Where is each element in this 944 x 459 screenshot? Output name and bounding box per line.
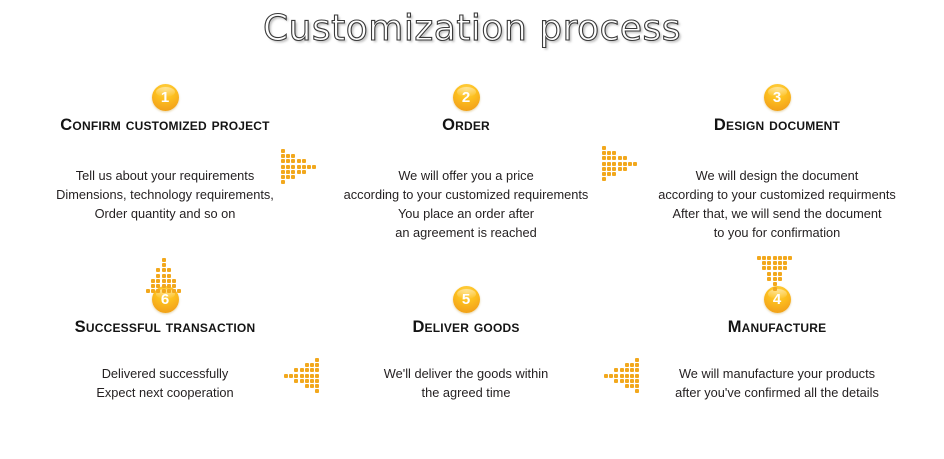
arrow-dot	[625, 374, 629, 378]
arrow-dot	[300, 379, 304, 383]
arrow-dot	[156, 268, 160, 272]
arrow-dot	[602, 151, 606, 155]
arrow-dot	[635, 389, 639, 393]
arrow-dot	[289, 374, 293, 378]
arrow-dot	[607, 162, 611, 166]
arrow-dot	[757, 256, 761, 260]
arrow-dot	[620, 374, 624, 378]
arrow-dot	[633, 162, 637, 166]
step-description-line: to you for confirmation	[627, 223, 927, 242]
arrow-dot	[604, 374, 608, 378]
arrow-dot	[172, 289, 176, 293]
arrow-dot	[294, 368, 298, 372]
arrow-dot	[300, 374, 304, 378]
arrow-dot	[162, 279, 166, 283]
arrow-dot	[307, 165, 311, 169]
process-step-1: 1 Confirm customized project Tell us abo…	[15, 84, 315, 223]
step-description-5: We'll deliver the goods within the agree…	[316, 364, 616, 402]
arrow-dot	[778, 272, 782, 276]
arrow-dot	[281, 159, 285, 163]
step-description-line: Expect next cooperation	[15, 383, 315, 402]
arrow-step6-to-step1-icon	[146, 258, 182, 294]
arrow-dot	[167, 289, 171, 293]
arrow-dot	[172, 279, 176, 283]
arrow-dot	[620, 379, 624, 383]
arrow-dot	[635, 363, 639, 367]
arrow-dot	[167, 274, 171, 278]
arrow-dot	[281, 149, 285, 153]
arrow-dot	[767, 256, 771, 260]
step-description-line: After that, we will send the document	[627, 204, 927, 223]
arrow-dot	[294, 379, 298, 383]
arrow-dot	[773, 282, 777, 286]
arrow-dot	[602, 167, 606, 171]
arrow-dot	[151, 284, 155, 288]
arrow-dot	[762, 266, 766, 270]
step-description-line: We will design the document	[627, 166, 927, 185]
arrow-dot	[315, 374, 319, 378]
arrow-dot	[167, 268, 171, 272]
arrow-dot	[305, 363, 309, 367]
arrow-dot	[315, 368, 319, 372]
arrow-dot	[162, 258, 166, 262]
arrow-dot	[783, 266, 787, 270]
step-number-badge-5: 5	[453, 286, 480, 313]
arrow-step2-to-step3-icon	[602, 146, 638, 182]
arrow-dot	[281, 165, 285, 169]
arrow-dot	[620, 368, 624, 372]
arrow-dot	[315, 363, 319, 367]
arrow-dot	[618, 167, 622, 171]
step-description-line: Order quantity and so on	[15, 204, 315, 223]
arrow-dot	[625, 384, 629, 388]
arrow-dot	[286, 165, 290, 169]
arrow-dot	[614, 374, 618, 378]
arrow-dot	[762, 256, 766, 260]
arrow-dot	[156, 284, 160, 288]
arrow-dot	[607, 151, 611, 155]
arrow-dot	[602, 162, 606, 166]
step-description-line: Delivered successfully	[15, 364, 315, 383]
arrow-dot	[162, 263, 166, 267]
arrow-dot	[310, 379, 314, 383]
arrow-dot	[286, 175, 290, 179]
arrow-dot	[286, 159, 290, 163]
arrow-dot	[773, 261, 777, 265]
step-description-line: according to your customized requirments	[627, 185, 927, 204]
arrow-dot	[773, 277, 777, 281]
arrow-dot	[291, 170, 295, 174]
arrow-dot	[294, 374, 298, 378]
step-description-line: Tell us about your requirements	[15, 166, 315, 185]
arrow-dot	[778, 261, 782, 265]
arrow-dot	[625, 379, 629, 383]
process-step-5: 5 Deliver goods We'll deliver the goods …	[316, 286, 616, 402]
arrow-dot	[172, 284, 176, 288]
step-heading-4: Manufacture	[627, 317, 927, 338]
arrow-dot	[310, 363, 314, 367]
arrow-dot	[625, 363, 629, 367]
arrow-dot	[623, 156, 627, 160]
process-steps-grid: 1 Confirm customized project Tell us abo…	[0, 0, 944, 459]
arrow-dot	[281, 170, 285, 174]
step-description-line: You place an order after	[316, 204, 616, 223]
arrow-dot	[630, 384, 634, 388]
step-description-line: after you've confirmed all the details	[627, 383, 927, 402]
arrow-dot	[297, 159, 301, 163]
arrow-dot	[305, 379, 309, 383]
arrow-dot	[609, 374, 613, 378]
process-step-6: 6 Successful transaction Delivered succe…	[15, 286, 315, 402]
arrow-dot	[630, 374, 634, 378]
arrow-dot	[602, 177, 606, 181]
arrow-dot	[297, 165, 301, 169]
arrow-dot	[625, 368, 629, 372]
arrow-dot	[162, 284, 166, 288]
step-description-line: Dimensions, technology requirements,	[15, 185, 315, 204]
arrow-step1-to-step2-icon	[281, 149, 317, 185]
arrow-dot	[315, 384, 319, 388]
arrow-dot	[635, 374, 639, 378]
arrow-dot	[156, 289, 160, 293]
step-description-1: Tell us about your requirements Dimensio…	[15, 166, 315, 223]
step-description-line: We will manufacture your products	[627, 364, 927, 383]
arrow-dot	[156, 279, 160, 283]
step-description-4: We will manufacture your products after …	[627, 364, 927, 402]
step-description-line: We'll deliver the goods within	[316, 364, 616, 383]
arrow-dot	[162, 268, 166, 272]
arrow-dot	[607, 172, 611, 176]
arrow-dot	[767, 266, 771, 270]
arrow-dot	[602, 146, 606, 150]
arrow-dot	[623, 167, 627, 171]
arrow-dot	[767, 261, 771, 265]
step-heading-1: Confirm customized project	[15, 115, 315, 136]
arrow-dot	[630, 368, 634, 372]
arrow-dot	[614, 379, 618, 383]
step-number-badge-3: 3	[764, 84, 791, 111]
arrow-dot	[315, 358, 319, 362]
step-description-line: an agreement is reached	[316, 223, 616, 242]
step-description-3: We will design the document according to…	[627, 166, 927, 242]
step-heading-5: Deliver goods	[316, 317, 616, 338]
arrow-dot	[281, 180, 285, 184]
arrow-dot	[762, 261, 766, 265]
arrow-dot	[783, 261, 787, 265]
arrow-dot	[778, 277, 782, 281]
step-description-6: Delivered successfully Expect next coope…	[15, 364, 315, 402]
arrow-dot	[310, 374, 314, 378]
arrow-dot	[156, 274, 160, 278]
step-description-2: We will offer you a price according to y…	[316, 166, 616, 242]
arrow-dot	[151, 279, 155, 283]
step-heading-2: Order	[316, 115, 616, 136]
arrow-dot	[281, 175, 285, 179]
arrow-dot	[607, 167, 611, 171]
arrow-dot	[783, 256, 787, 260]
arrow-dot	[778, 256, 782, 260]
arrow-dot	[628, 162, 632, 166]
step-description-line: the agreed time	[316, 383, 616, 402]
arrow-dot	[612, 172, 616, 176]
arrow-dot	[281, 154, 285, 158]
arrow-dot	[630, 379, 634, 383]
arrow-step3-to-step4-icon	[757, 256, 793, 292]
step-number-badge-2: 2	[453, 84, 480, 111]
arrow-dot	[162, 274, 166, 278]
arrow-dot	[618, 162, 622, 166]
arrow-dot	[612, 151, 616, 155]
arrow-dot	[612, 162, 616, 166]
arrow-dot	[635, 358, 639, 362]
arrow-dot	[151, 289, 155, 293]
arrow-dot	[612, 156, 616, 160]
arrow-dot	[773, 272, 777, 276]
step-description-line: according to your customized requirement…	[316, 185, 616, 204]
step-description-line: We will offer you a price	[316, 166, 616, 185]
arrow-dot	[291, 159, 295, 163]
arrow-dot	[284, 374, 288, 378]
arrow-dot	[312, 165, 316, 169]
process-step-4: 4 Manufacture We will manufacture your p…	[627, 286, 927, 402]
arrow-dot	[302, 165, 306, 169]
process-step-2: 2 Order We will offer you a price accord…	[316, 84, 616, 242]
step-heading-6: Successful transaction	[15, 317, 315, 338]
arrow-dot	[618, 156, 622, 160]
arrow-step4-to-step5-icon	[604, 358, 640, 394]
step-heading-3: Design document	[627, 115, 927, 136]
arrow-dot	[167, 279, 171, 283]
arrow-dot	[305, 374, 309, 378]
step-number-badge-1: 1	[152, 84, 179, 111]
arrow-dot	[773, 266, 777, 270]
arrow-dot	[310, 368, 314, 372]
arrow-dot	[167, 284, 171, 288]
arrow-dot	[302, 170, 306, 174]
arrow-dot	[315, 379, 319, 383]
arrow-dot	[315, 389, 319, 393]
arrow-dot	[635, 384, 639, 388]
arrow-dot	[291, 154, 295, 158]
arrow-dot	[773, 287, 777, 291]
arrow-dot	[614, 368, 618, 372]
arrow-dot	[602, 156, 606, 160]
arrow-dot	[778, 266, 782, 270]
arrow-dot	[630, 363, 634, 367]
arrow-dot	[302, 159, 306, 163]
arrow-dot	[305, 368, 309, 372]
arrow-dot	[291, 175, 295, 179]
arrow-dot	[177, 289, 181, 293]
process-step-3: 3 Design document We will design the doc…	[627, 84, 927, 242]
arrow-dot	[635, 379, 639, 383]
arrow-dot	[310, 384, 314, 388]
arrow-dot	[286, 170, 290, 174]
arrow-dot	[788, 256, 792, 260]
arrow-dot	[623, 162, 627, 166]
arrow-step5-to-step6-icon	[284, 358, 320, 394]
arrow-dot	[612, 167, 616, 171]
arrow-dot	[607, 156, 611, 160]
arrow-dot	[767, 277, 771, 281]
arrow-dot	[146, 289, 150, 293]
arrow-dot	[635, 368, 639, 372]
arrow-dot	[305, 384, 309, 388]
arrow-dot	[773, 256, 777, 260]
arrow-dot	[602, 172, 606, 176]
arrow-dot	[300, 368, 304, 372]
arrow-dot	[297, 170, 301, 174]
arrow-dot	[291, 165, 295, 169]
arrow-dot	[286, 154, 290, 158]
arrow-dot	[767, 272, 771, 276]
arrow-dot	[162, 289, 166, 293]
